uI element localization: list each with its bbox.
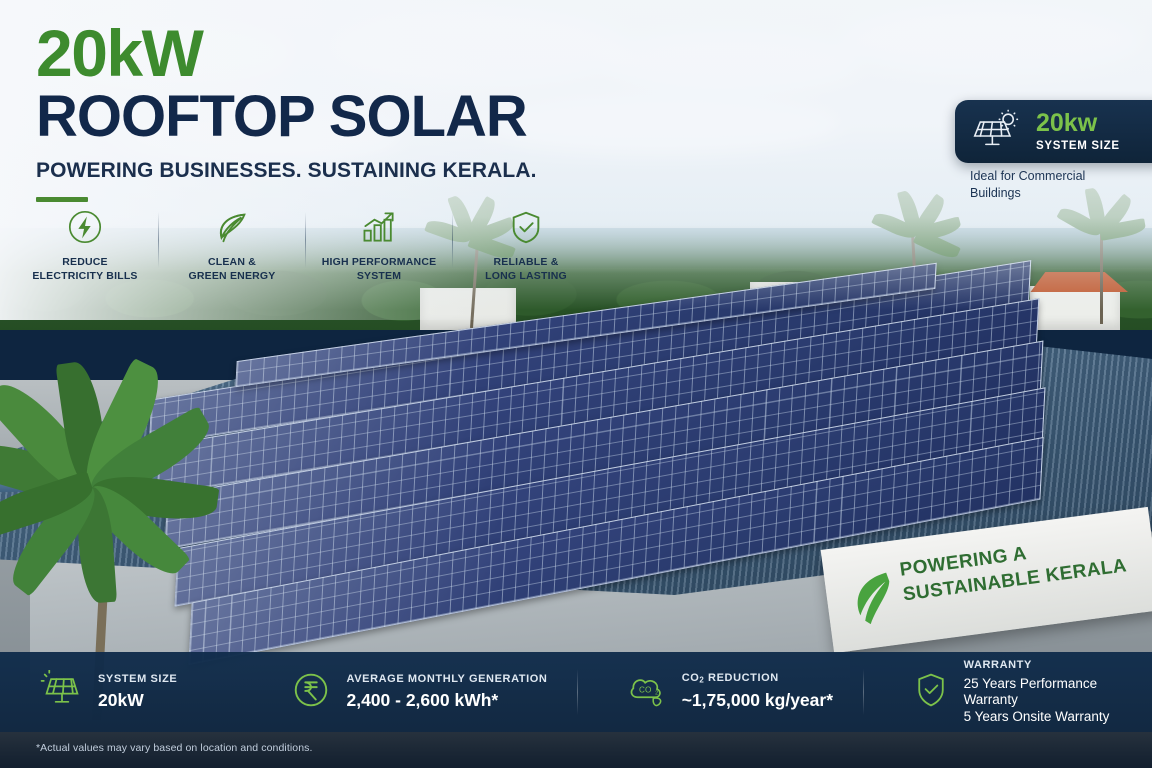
rupee-circle-icon [290, 669, 332, 716]
feature-label: RELIABLE & LONG LASTING [485, 256, 567, 284]
shield-check-icon [507, 206, 545, 248]
badge-note: Ideal for Commercial Buildings [970, 168, 1130, 201]
svg-text:CO: CO [639, 685, 651, 694]
shield-check-icon [912, 670, 950, 715]
stats-bar: SYSTEM SIZE 20kW AVERAGE MONTHLY GENERAT… [0, 652, 1152, 732]
stat-value-secondary: 5 Years Onsite Warranty [964, 709, 1152, 725]
svg-text:2: 2 [655, 690, 658, 696]
feature-label: REDUCE ELECTRICITY BILLS [32, 256, 137, 284]
stat-label: CO2 REDUCTION [682, 672, 833, 685]
feature-divider [452, 212, 453, 268]
solar-banner: POWERING A SUSTAINABLE KERALA 20kW ROOFT… [0, 0, 1152, 768]
feature-green-energy: CLEAN & GREEN ENERGY [171, 206, 293, 284]
feature-strip: REDUCE ELECTRICITY BILLS CLEAN & GREEN E… [24, 206, 587, 284]
feature-label: HIGH PERFORMANCE SYSTEM [322, 256, 437, 284]
stat-value: 25 Years Performance Warranty [964, 676, 1152, 709]
stat-label: AVERAGE MONTHLY GENERATION [346, 673, 547, 685]
stat-divider [863, 669, 864, 715]
headline-block: 20kW ROOFTOP SOLAR POWERING BUSINESSES. … [36, 22, 537, 202]
headline-underline [36, 197, 88, 202]
feature-reduce-bills: REDUCE ELECTRICITY BILLS [24, 206, 146, 284]
headline-title: ROOFTOP SOLAR [36, 87, 537, 146]
bolt-circle-icon [66, 206, 104, 248]
badge-label: SYSTEM SIZE [1036, 140, 1120, 152]
badge-value: 20kw [1036, 111, 1120, 136]
stat-label: WARRANTY [964, 659, 1152, 671]
feature-reliable: RELIABLE & LONG LASTING [465, 206, 587, 284]
stat-divider [577, 669, 578, 715]
system-size-badge: 20kw SYSTEM SIZE [955, 100, 1152, 163]
stat-co2-reduction: CO 2 CO2 REDUCTION ~1,75,000 kg/year* [626, 670, 863, 715]
leaf-icon [213, 206, 251, 248]
headline-subtitle: POWERING BUSINESSES. SUSTAINING KERALA. [36, 159, 537, 183]
headline-kw: 20kW [36, 22, 537, 85]
stat-warranty: WARRANTY 25 Years Performance Warranty 5… [912, 659, 1152, 725]
bar-chart-growth-icon [359, 206, 399, 248]
disclaimer-text: *Actual values may vary based on locatio… [36, 742, 313, 754]
feature-divider [305, 212, 306, 268]
leaf-logo-icon [842, 567, 901, 629]
co2-cloud-leaf-icon: CO 2 [626, 670, 668, 715]
feature-label: CLEAN & GREEN ENERGY [189, 256, 276, 284]
solar-panel-icon [40, 670, 84, 715]
stat-label: SYSTEM SIZE [98, 673, 177, 685]
feature-divider [158, 212, 159, 268]
stat-system-size: SYSTEM SIZE 20kW [40, 670, 230, 715]
feature-high-performance: HIGH PERFORMANCE SYSTEM [318, 206, 440, 284]
stat-value: 2,400 - 2,600 kWh* [346, 690, 547, 711]
stat-value: ~1,75,000 kg/year* [682, 690, 833, 711]
sign-text: POWERING A SUSTAINABLE KERALA [898, 528, 1128, 607]
stat-value: 20kW [98, 690, 177, 711]
solar-panel-sun-icon [971, 109, 1023, 155]
stat-divider [230, 669, 231, 715]
stat-monthly-generation: AVERAGE MONTHLY GENERATION 2,400 - 2,600… [290, 669, 576, 716]
